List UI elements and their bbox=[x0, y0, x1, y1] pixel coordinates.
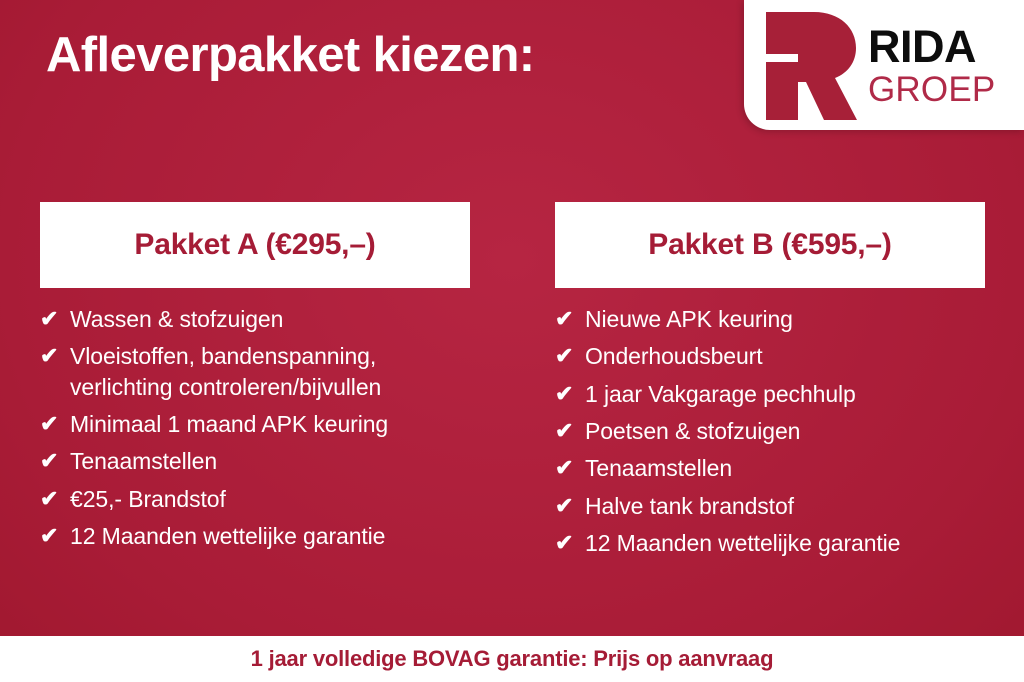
logo-wordmark: RIDA GROEP bbox=[868, 24, 995, 107]
feature-text: Nieuwe APK keuring bbox=[585, 304, 985, 334]
check-icon: ✔ bbox=[555, 416, 585, 445]
check-icon: ✔ bbox=[555, 341, 585, 370]
check-icon: ✔ bbox=[40, 446, 70, 475]
list-item: ✔ Minimaal 1 maand APK keuring bbox=[40, 409, 470, 439]
package-a-feature-list: ✔ Wassen & stofzuigen ✔ Vloeistoffen, ba… bbox=[40, 288, 470, 552]
feature-text: Tenaamstellen bbox=[585, 453, 985, 483]
check-icon: ✔ bbox=[40, 341, 70, 370]
afleverpakket-poster: Afleverpakket kiezen: RIDA GROEP Pakket … bbox=[0, 0, 1024, 682]
page-title: Afleverpakket kiezen: bbox=[46, 28, 535, 83]
check-icon: ✔ bbox=[40, 484, 70, 513]
feature-text: Minimaal 1 maand APK keuring bbox=[70, 409, 470, 439]
list-item: ✔ 12 Maanden wettelijke garantie bbox=[40, 521, 470, 551]
feature-text: €25,- Brandstof bbox=[70, 484, 470, 514]
check-icon: ✔ bbox=[555, 528, 585, 557]
package-card-b[interactable]: Pakket B (€595,–) ✔ Nieuwe APK keuring ✔… bbox=[555, 202, 985, 566]
rida-groep-logo: RIDA GROEP bbox=[744, 0, 1024, 130]
list-item: ✔ Wassen & stofzuigen bbox=[40, 304, 470, 334]
check-icon: ✔ bbox=[555, 453, 585, 482]
check-icon: ✔ bbox=[40, 521, 70, 550]
package-b-feature-list: ✔ Nieuwe APK keuring ✔ Onderhoudsbeurt ✔… bbox=[555, 288, 985, 559]
list-item: ✔ Tenaamstellen bbox=[40, 446, 470, 476]
feature-text: 1 jaar Vakgarage pechhulp bbox=[585, 379, 985, 409]
logo-subtitle: GROEP bbox=[868, 72, 995, 107]
list-item: ✔ Tenaamstellen bbox=[555, 453, 985, 483]
feature-text: Wassen & stofzuigen bbox=[70, 304, 470, 334]
check-icon: ✔ bbox=[555, 304, 585, 333]
bovag-guarantee-banner: 1 jaar volledige BOVAG garantie: Prijs o… bbox=[0, 636, 1024, 682]
list-item: ✔ Halve tank brandstof bbox=[555, 491, 985, 521]
package-a-header: Pakket A (€295,–) bbox=[40, 202, 470, 288]
check-icon: ✔ bbox=[555, 491, 585, 520]
list-item: ✔ Vloeistoffen, bandenspanning, verlicht… bbox=[40, 341, 470, 402]
feature-text: Tenaamstellen bbox=[70, 446, 470, 476]
check-icon: ✔ bbox=[40, 304, 70, 333]
list-item: ✔ €25,- Brandstof bbox=[40, 484, 470, 514]
list-item: ✔ Poetsen & stofzuigen bbox=[555, 416, 985, 446]
package-a-title: Pakket A (€295,–) bbox=[134, 228, 375, 262]
package-b-header: Pakket B (€595,–) bbox=[555, 202, 985, 288]
list-item: ✔ 12 Maanden wettelijke garantie bbox=[555, 528, 985, 558]
package-card-a[interactable]: Pakket A (€295,–) ✔ Wassen & stofzuigen … bbox=[40, 202, 470, 566]
check-icon: ✔ bbox=[555, 379, 585, 408]
logo-name: RIDA bbox=[868, 24, 995, 69]
list-item: ✔ Nieuwe APK keuring bbox=[555, 304, 985, 334]
check-icon: ✔ bbox=[40, 409, 70, 438]
list-item: ✔ Onderhoudsbeurt bbox=[555, 341, 985, 371]
package-b-title: Pakket B (€595,–) bbox=[648, 228, 891, 262]
bovag-guarantee-text: 1 jaar volledige BOVAG garantie: Prijs o… bbox=[251, 646, 774, 672]
list-item: ✔ 1 jaar Vakgarage pechhulp bbox=[555, 379, 985, 409]
feature-text: Vloeistoffen, bandenspanning, verlichtin… bbox=[70, 341, 470, 402]
rida-r-mark-icon bbox=[762, 10, 858, 122]
feature-text: Halve tank brandstof bbox=[585, 491, 985, 521]
feature-text: 12 Maanden wettelijke garantie bbox=[70, 521, 470, 551]
feature-text: Onderhoudsbeurt bbox=[585, 341, 985, 371]
feature-text: Poetsen & stofzuigen bbox=[585, 416, 985, 446]
feature-text: 12 Maanden wettelijke garantie bbox=[585, 528, 985, 558]
package-columns: Pakket A (€295,–) ✔ Wassen & stofzuigen … bbox=[0, 202, 1024, 566]
